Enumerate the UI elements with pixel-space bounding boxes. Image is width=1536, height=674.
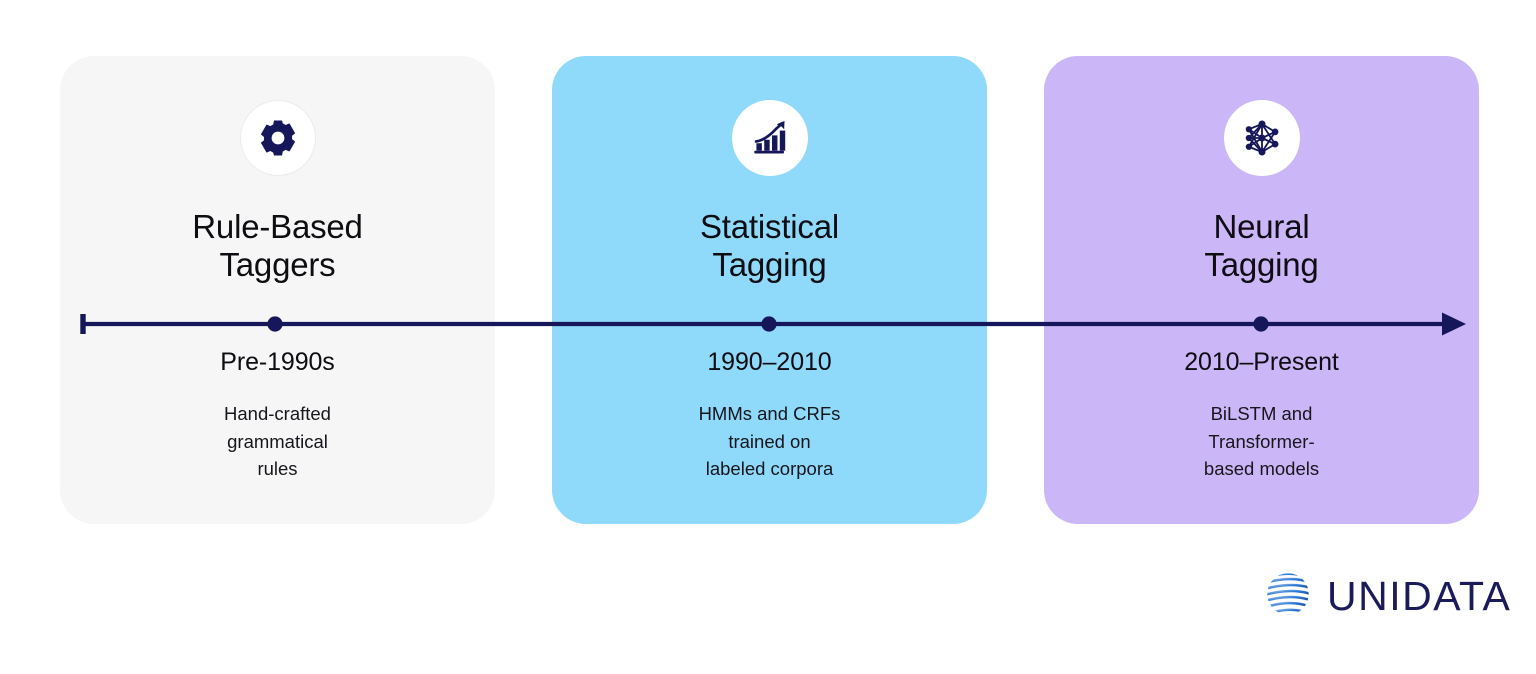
growth-chart-icon-badge [732, 100, 808, 176]
stage-title: Statistical Tagging [552, 208, 987, 284]
stage-period: 2010–Present [1044, 347, 1479, 377]
stage-description: Hand-crafted grammatical rules [60, 400, 495, 483]
growth-chart-icon [749, 117, 791, 159]
stage-description: BiLSTM and Transformer- based models [1044, 400, 1479, 483]
gear-icon-badge [240, 100, 316, 176]
infographic-canvas: Rule-Based Taggers Pre-1990s Hand-crafte… [0, 0, 1536, 674]
stage-period: Pre-1990s [60, 347, 495, 377]
stage-description: HMMs and CRFs trained on labeled corpora [552, 400, 987, 483]
striped-globe-icon [1262, 568, 1314, 625]
neural-network-icon-badge [1224, 100, 1300, 176]
gear-icon [257, 117, 299, 159]
brand-logo: UNIDATA [1262, 568, 1511, 625]
stage-card-neural: Neural Tagging 2010–Present BiLSTM and T… [1044, 56, 1479, 524]
stage-card-rule-based: Rule-Based Taggers Pre-1990s Hand-crafte… [60, 56, 495, 524]
brand-wordmark: UNIDATA [1327, 576, 1511, 617]
neural-network-icon [1241, 117, 1283, 159]
stage-title: Neural Tagging [1044, 208, 1479, 284]
stage-period: 1990–2010 [552, 347, 987, 377]
stage-title: Rule-Based Taggers [60, 208, 495, 284]
stage-card-statistical: Statistical Tagging 1990–2010 HMMs and C… [552, 56, 987, 524]
